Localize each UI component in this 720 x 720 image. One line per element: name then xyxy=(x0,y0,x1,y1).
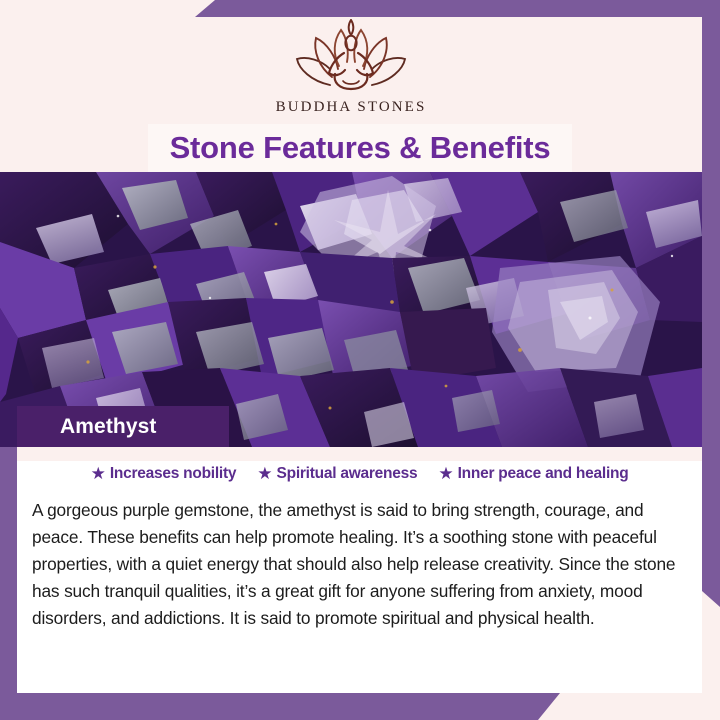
star-icon: ★ xyxy=(91,465,106,482)
card-top-tint xyxy=(17,447,702,461)
brand-name: BUDDHA STONES xyxy=(276,99,427,116)
star-icon: ★ xyxy=(257,465,272,482)
title-banner: Stone Features & Benefits xyxy=(148,124,572,172)
benefit-item: ★ Spiritual awareness xyxy=(257,465,417,483)
frame-band-left xyxy=(0,447,17,693)
benefit-item: ★ Inner peace and healing xyxy=(438,465,628,483)
benefit-label: Spiritual awareness xyxy=(277,465,418,483)
brand-logo: BUDDHA STONES xyxy=(0,19,702,116)
star-icon: ★ xyxy=(438,465,453,482)
frame-band-right xyxy=(702,0,720,607)
benefit-label: Increases nobility xyxy=(110,465,236,483)
poster-root: BUDDHA STONES Stone Features & Benefits xyxy=(0,0,720,720)
frame-band-bottom xyxy=(0,693,560,720)
benefit-item: ★ Increases nobility xyxy=(91,465,237,483)
lotus-meditation-figure-icon xyxy=(289,19,413,97)
content-card: ★ Increases nobility ★ Spiritual awarene… xyxy=(17,447,702,693)
benefit-label: Inner peace and healing xyxy=(458,465,629,483)
stone-name-text: Amethyst xyxy=(17,415,157,439)
frame-band-top xyxy=(195,0,720,17)
page-title: Stone Features & Benefits xyxy=(170,130,551,166)
stone-description: A gorgeous purple gemstone, the amethyst… xyxy=(32,497,680,631)
benefits-list: ★ Increases nobility ★ Spiritual awarene… xyxy=(17,465,702,483)
stone-name-label: Amethyst xyxy=(17,406,229,447)
